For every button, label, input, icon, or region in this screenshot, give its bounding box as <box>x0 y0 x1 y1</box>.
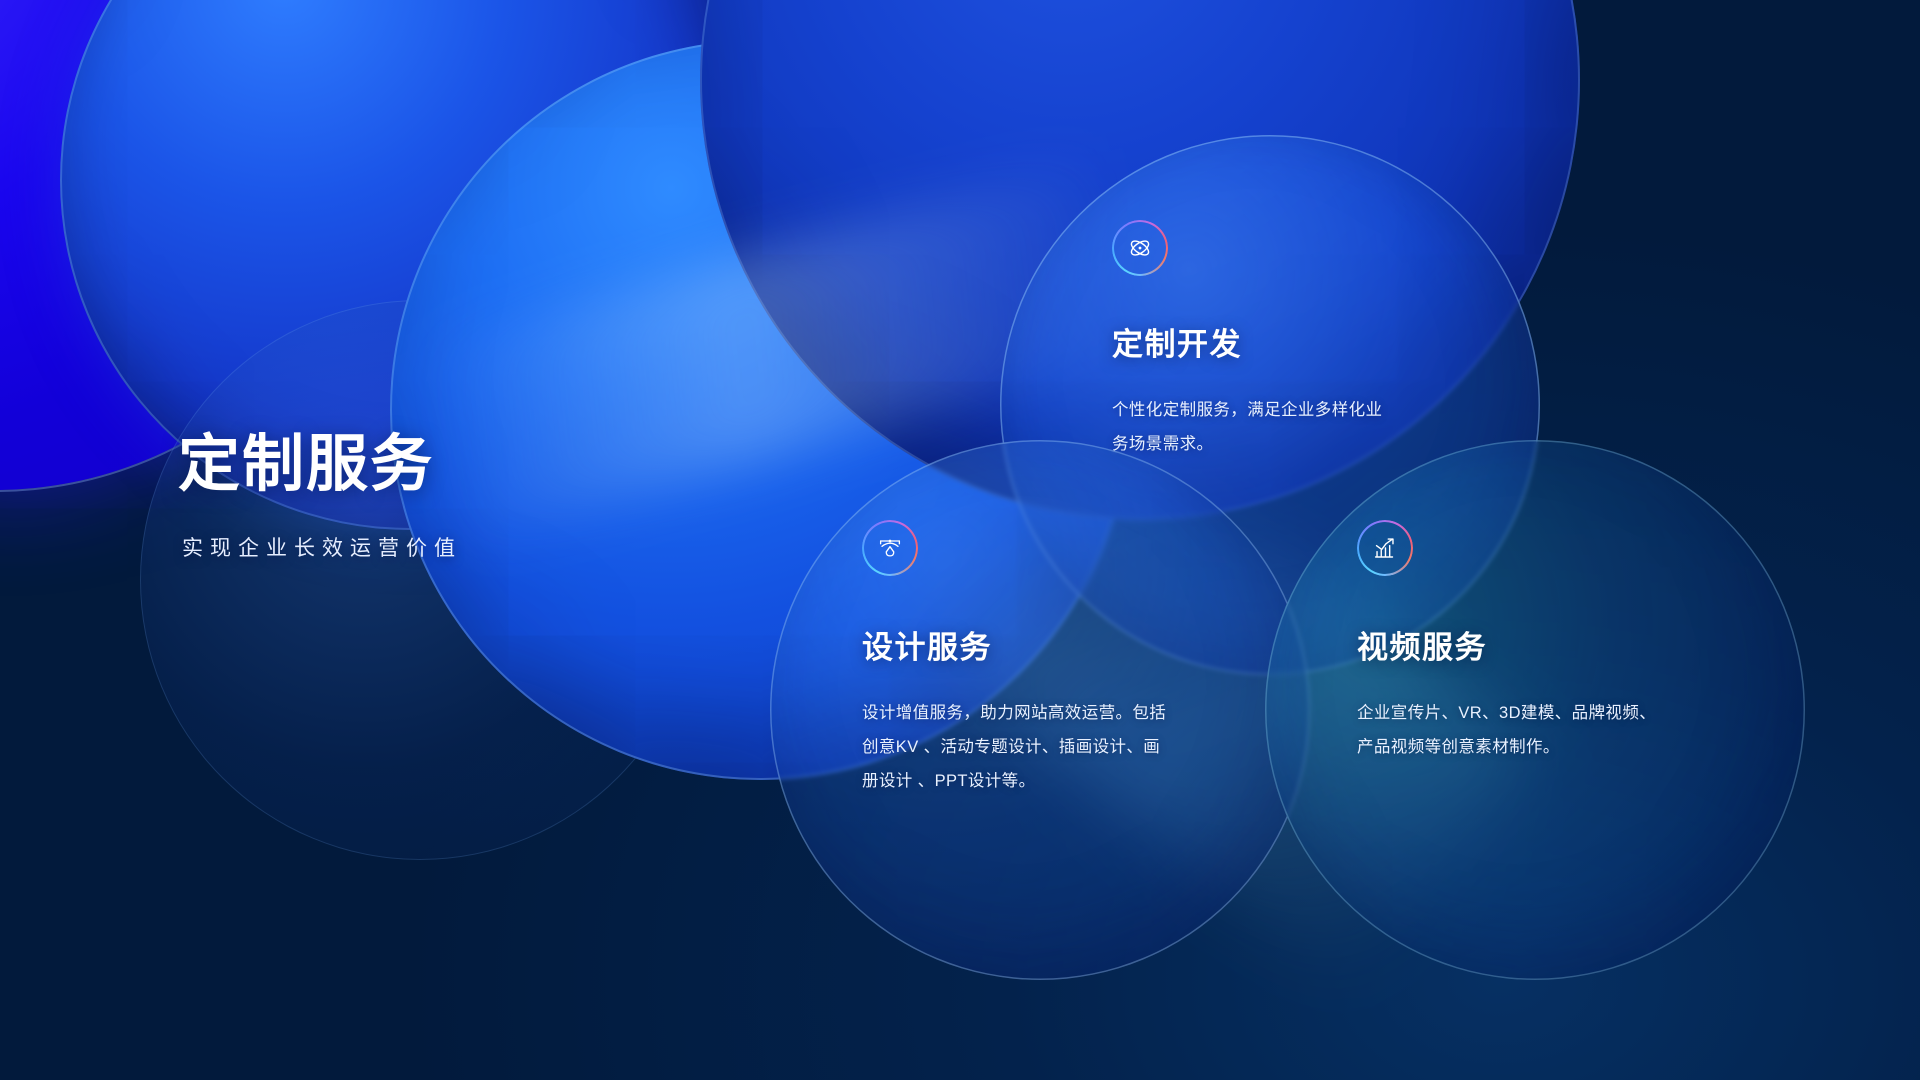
background-orb-indigo <box>0 0 390 490</box>
card-description-line: 务场景需求。 <box>1112 428 1412 462</box>
card-description-line: 企业宣传片、VR、3D建模、品牌视频、 <box>1357 697 1657 731</box>
pen-nib-icon <box>862 520 918 576</box>
bar-chart-trend-glyph <box>1370 533 1400 563</box>
card-title: 视频服务 <box>1357 622 1737 667</box>
card-description-line: 产品视频等创意素材制作。 <box>1357 731 1657 765</box>
card-description-line: 设计增值服务，助力网站高效运营。包括 <box>862 697 1230 731</box>
bar-chart-trend-icon <box>1357 520 1413 576</box>
atom-orbit-icon <box>1112 220 1168 276</box>
page-title: 定制服务 <box>178 432 698 498</box>
card-description-line: 册设计 、PPT设计等。 <box>862 765 1230 799</box>
customization-services-hero-section: 定制服务 实现企业长效运营价值 定制开发 个性化定制服务，满足企业多样化业 务场… <box>0 0 1920 1080</box>
service-card-video-service[interactable]: 视频服务 企业宣传片、VR、3D建模、品牌视频、 产品视频等创意素材制作。 <box>1265 440 1805 980</box>
atom-orbit-glyph <box>1125 233 1155 263</box>
card-content: 视频服务 企业宣传片、VR、3D建模、品牌视频、 产品视频等创意素材制作。 <box>1357 520 1737 765</box>
hero-copy-block: 定制服务 实现企业长效运营价值 <box>178 432 698 562</box>
card-description-line: 创意KV 、活动专题设计、插画设计、画 <box>862 731 1230 765</box>
card-description: 个性化定制服务，满足企业多样化业 务场景需求。 <box>1112 394 1412 462</box>
service-card-design-service[interactable]: 设计服务 设计增值服务，助力网站高效运营。包括 创意KV 、活动专题设计、插画设… <box>770 440 1310 980</box>
pen-nib-glyph <box>875 533 905 563</box>
card-title: 定制开发 <box>1112 319 1472 364</box>
page-subtitle: 实现企业长效运营价值 <box>182 532 698 562</box>
card-description: 设计增值服务，助力网站高效运营。包括 创意KV 、活动专题设计、插画设计、画 册… <box>862 697 1230 798</box>
background-orb-faint <box>140 300 700 860</box>
card-content: 定制开发 个性化定制服务，满足企业多样化业 务场景需求。 <box>1112 220 1472 462</box>
card-content: 设计服务 设计增值服务，助力网站高效运营。包括 创意KV 、活动专题设计、插画设… <box>862 520 1242 798</box>
card-title: 设计服务 <box>862 622 1242 667</box>
card-description-line: 个性化定制服务，满足企业多样化业 <box>1112 394 1412 428</box>
card-description: 企业宣传片、VR、3D建模、品牌视频、 产品视频等创意素材制作。 <box>1357 697 1657 765</box>
